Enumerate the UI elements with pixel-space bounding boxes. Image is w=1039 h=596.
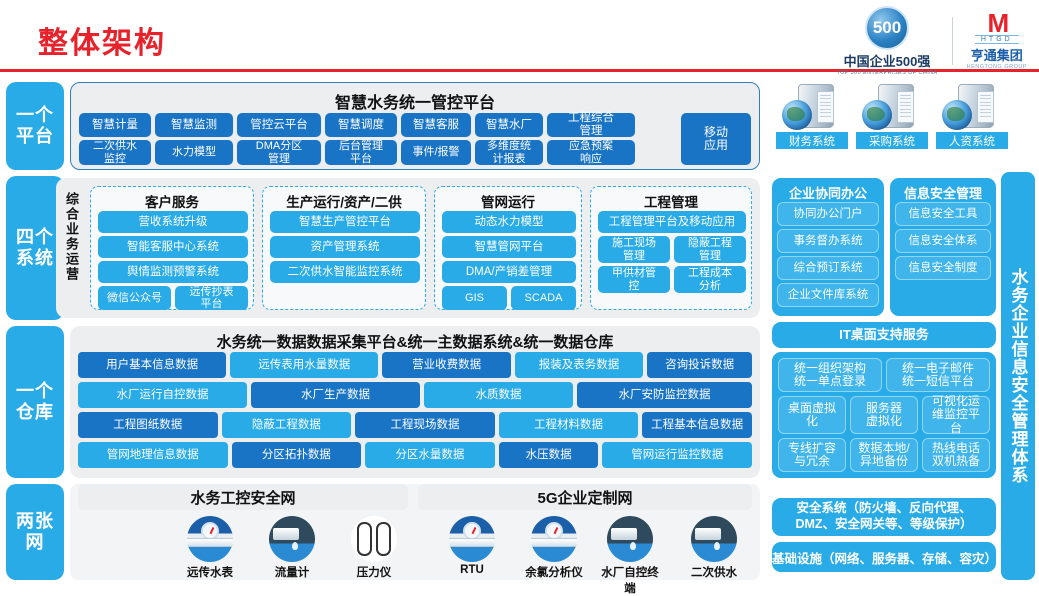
system-module[interactable]: 微信公众号 [98,286,171,310]
sensor-item[interactable]: RTU [440,516,504,576]
system-module[interactable]: DMA/产销差管理 [442,261,576,283]
panel-item[interactable]: 企业文件库系统 [777,283,879,307]
panel-enterprise-collab: 企业协同办公 协同办公门户事务督办系统综合预订系统企业文件库系统 [772,178,884,316]
warehouse-item[interactable]: 水压数据 [499,442,599,468]
system-module[interactable]: SCADA [511,286,576,310]
pipe-icon [449,538,495,547]
sensor-label: 二次供水 [682,564,746,580]
platform-module[interactable]: 事件/报警 [401,140,471,165]
it-support-item[interactable]: 专线扩容 与冗余 [778,438,846,472]
platform-module[interactable]: 智慧水厂 [475,113,543,137]
it-support-item[interactable]: 可视化运 维监控平 台 [922,396,990,434]
warehouse-item[interactable]: 水质数据 [424,382,573,408]
external-system-label: 财务系统 [776,132,848,149]
gauge-needle-icon [210,527,214,534]
plant-terminal-icon [607,516,653,562]
rail-label: 一个 平台 [16,105,54,146]
pressure-gauge-icon [351,516,397,562]
globe-icon [862,100,892,130]
panel-item[interactable]: 协同办公门户 [777,202,879,226]
gauge-needle-icon [554,527,558,534]
platform-module[interactable]: 智慧计量 [79,113,151,137]
panel-item[interactable]: 信息安全制度 [895,256,991,280]
platform-module[interactable]: 管控云平台 [237,113,321,137]
warehouse-item[interactable]: 工程材料数据 [499,412,639,438]
logo-group: 500 中国企业500强 TOP 500 ENTERPRISES OF CHIN… [836,6,1027,76]
warehouse-item[interactable]: 分区水量数据 [365,442,495,468]
system-group-3: 工程管理工程管理平台及移动应用施工现场 管理隐蔽工程 管理甲供材管 控工程成本 … [590,186,752,310]
system-module[interactable]: 工程管理平台及移动应用 [598,211,746,233]
external-system[interactable]: 财务系统 [776,84,848,149]
system-module[interactable]: 智能客服中心系统 [98,236,248,258]
network-title-5g: 5G企业定制网 [418,484,752,510]
warehouse-item[interactable]: 报装及表务数据 [515,352,643,378]
sensor-item[interactable]: 压力仪 [342,516,406,580]
sensor-item[interactable]: 流量计 [260,516,324,580]
warehouse-item[interactable]: 分区拓扑数据 [232,442,362,468]
top500-logo: 500 中国企业500强 TOP 500 ENTERPRISES OF CHIN… [836,6,937,76]
system-module[interactable]: 营收系统升级 [98,211,248,233]
rail-two-networks: 两张 网 [6,484,64,580]
networks-panel: 水务工控安全网 5G企业定制网 远传水表流量计压力仪RTU余氯分析仪水厂自控终端… [70,484,760,580]
rail-one-platform: 一个 平台 [6,82,64,170]
server-slots-icon [817,91,834,123]
security-system-label: 安全系统（防火墙、反向代理、DMZ、安全网关等、等级保护） [772,501,996,532]
warehouse-item[interactable]: 水厂运行自控数据 [78,382,247,408]
hengtong-cn-label: 亨通集团 [971,45,1023,64]
sensor-label: 余氯分析仪 [522,564,586,580]
flow-meter-icon [269,516,315,562]
spout-icon [611,528,637,540]
page-header: 整体架构 500 中国企业500强 TOP 500 ENTERPRISES OF… [0,0,1039,72]
server-globe-icon [862,84,922,130]
gauge-body-icon [357,522,372,556]
sensor-label: 水厂自控终端 [598,564,662,596]
gauge-needle-icon [472,527,476,534]
platform-panel: 智慧水务统一管控平台 智慧计量智慧监测管控云平台智慧调度智慧客服智慧水厂工程综合… [70,82,760,170]
warehouse-item[interactable]: 工程图纸数据 [78,412,218,438]
platform-module[interactable]: 二次供水 监控 [79,140,151,165]
system-group-1: 生产运行/资产/二供智慧生产管控平台资产管理系统二次供水智能监控系统 [262,186,426,310]
page-title: 整体架构 [38,18,166,62]
globe-icon [942,100,972,130]
rail-label: 四个 系统 [16,227,54,268]
system-group-2: 管网运行动态水力模型智慧管网平台DMA/产销差管理GISSCADA [434,186,582,310]
it-support-item[interactable]: 统一电子邮件 统一短信平台 [886,358,990,392]
server-slots-icon [897,91,914,123]
system-module[interactable]: GIS [442,286,507,310]
warehouse-item[interactable]: 管网运行监控数据 [602,442,752,468]
platform-title: 智慧水务统一管控平台 [71,89,759,113]
pipe-icon [187,538,233,547]
gauge-body-icon [376,522,391,556]
warehouse-title: 水务统一数据数据采集平台&统一主数据系统&统一数据仓库 [70,331,760,352]
it-support-title: IT桌面支持服务 [772,322,996,348]
it-support-item[interactable]: 服务器 虚拟化 [850,396,918,434]
top500-en-label: TOP 500 ENTERPRISES OF CHINA [836,70,937,76]
spout-icon [695,528,721,540]
warehouse-item[interactable]: 工程基本信息数据 [642,412,752,438]
platform-module[interactable]: 应急预案 响应 [547,140,635,165]
sensor-label: RTU [440,564,504,576]
platform-module[interactable]: 后台管理 平台 [325,140,397,165]
system-group-0: 客户服务营收系统升级智能客服中心系统舆情监测预警系统微信公众号远传抄表 平台 [90,186,254,310]
secondary-supply-icon [691,516,737,562]
network-title-industrial: 水务工控安全网 [78,484,408,510]
system-module[interactable]: 动态水力模型 [442,211,576,233]
it-support-header: IT桌面支持服务 [772,322,996,348]
globe-icon [782,100,812,130]
server-globe-icon [782,84,842,130]
chlorine-analyzer-icon [531,516,577,562]
system-group-title: 生产运行/资产/二供 [263,191,425,211]
panel-item[interactable]: 信息安全体系 [895,229,991,253]
external-system-label: 人资系统 [936,132,1008,149]
system-module[interactable]: 智慧生产管控平台 [270,211,420,233]
system-module[interactable]: 舆情监测预警系统 [98,261,248,283]
platform-module[interactable]: 智慧客服 [401,113,471,137]
server-globe-icon [942,84,1002,130]
server-slots-icon [977,91,994,123]
security-system-bar: 安全系统（防火墙、反向代理、DMZ、安全网关等、等级保护） [772,498,996,536]
panel-infosec-mgmt: 信息安全管理 信息安全工具信息安全体系信息安全制度 [890,178,996,316]
hengtong-en-label: HENGTONG GROUP [967,64,1027,70]
hengtong-mark-icon: M [987,12,1006,35]
rtu-icon [449,516,495,562]
water-drop-icon [630,542,636,550]
it-support-item[interactable]: 统一组织架构 统一单点登录 [778,358,882,392]
system-module[interactable]: 二次供水智能监控系统 [270,261,420,283]
warehouse-item[interactable]: 营业收费数据 [382,352,510,378]
system-module[interactable]: 甲供材管 控 [598,266,670,293]
panel-item[interactable]: 事务督办系统 [777,229,879,253]
water-drop-icon [292,542,298,550]
platform-module[interactable]: 工程综合 管理 [547,113,635,137]
platform-module[interactable]: DMA分区 管理 [237,140,321,165]
system-group-title: 客户服务 [91,191,253,211]
warehouse-item[interactable]: 咨询投诉数据 [647,352,752,378]
warehouse-item[interactable]: 水厂生产数据 [251,382,420,408]
system-module[interactable]: 施工现场 管理 [598,236,670,263]
panel-title: 信息安全管理 [890,178,996,202]
it-support-panel: 统一组织架构 统一单点登录统一电子邮件 统一短信平台 桌面虚拟 化服务器 虚拟化… [772,352,996,478]
rail-label: 一个 仓库 [16,381,54,422]
platform-mobile-app[interactable]: 移动 应用 [681,113,751,165]
external-system[interactable]: 人资系统 [936,84,1008,149]
warehouse-item[interactable]: 工程现场数据 [355,412,495,438]
top500-badge-icon: 500 [865,6,909,50]
pipe-icon [531,538,577,547]
warehouse-item[interactable]: 远传表用水量数据 [230,352,378,378]
platform-module[interactable]: 多维度统 计报表 [475,140,543,165]
panel-title: 企业协同办公 [772,178,884,202]
infrastructure-bar: 基础设施（网络、服务器、存储、容灾） [772,542,996,572]
system-module[interactable]: 资产管理系统 [270,236,420,258]
system-module[interactable]: 工程成本 分析 [674,266,746,293]
it-support-item[interactable]: 桌面虚拟 化 [778,396,846,434]
external-system-label: 采购系统 [856,132,928,149]
four-systems-panel: 综合业务运营 客户服务营收系统升级智能客服中心系统舆情监测预警系统微信公众号远传… [56,178,760,318]
top500-cn-label: 中国企业500强 [844,51,931,70]
sensor-item[interactable]: 水厂自控终端 [598,516,662,596]
right-vertical-label: 水务企业信息安全管理体系 [1001,172,1035,580]
platform-module[interactable]: 智慧监测 [155,113,233,137]
warehouse-item[interactable]: 用户基本信息数据 [78,352,226,378]
external-system[interactable]: 采购系统 [856,84,928,149]
hengtong-ellipse-label: HTGD [975,35,1019,44]
system-module[interactable]: 智慧管网平台 [442,236,576,258]
sensor-item[interactable]: 远传水表 [178,516,242,580]
system-module[interactable]: 隐蔽工程 管理 [674,236,746,263]
data-warehouse-panel: 水务统一数据数据采集平台&统一主数据系统&统一数据仓库 用户基本信息数据远传表用… [70,326,760,478]
water-drop-icon [714,542,720,550]
integrated-operations-label: 综合业务运营 [62,192,81,282]
panel-item[interactable]: 信息安全工具 [895,202,991,226]
warehouse-item[interactable]: 管网地理信息数据 [78,442,228,468]
sensor-label: 压力仪 [342,564,406,580]
warehouse-item[interactable]: 水厂安防监控数据 [577,382,752,408]
system-module[interactable]: 远传抄表 平台 [175,286,248,310]
sensor-label: 远传水表 [178,564,242,580]
sensor-item[interactable]: 余氯分析仪 [522,516,586,580]
architecture-diagram: 整体架构 500 中国企业500强 TOP 500 ENTERPRISES OF… [0,0,1039,584]
sensor-label: 流量计 [260,564,324,580]
it-support-item[interactable]: 热线电话 双机热备 [922,438,990,472]
platform-module[interactable]: 智慧调度 [325,113,397,137]
logo-divider [952,17,953,65]
platform-module[interactable]: 水力模型 [155,140,233,165]
water-meter-icon [187,516,233,562]
system-group-title: 工程管理 [591,191,751,211]
system-group-title: 管网运行 [435,191,581,211]
sensor-item[interactable]: 二次供水 [682,516,746,580]
rail-label: 两张 网 [16,511,54,552]
hengtong-logo: M HTGD 亨通集团 HENGTONG GROUP [967,12,1027,70]
warehouse-item[interactable]: 隐蔽工程数据 [222,412,352,438]
infrastructure-label: 基础设施（网络、服务器、存储、容灾） [772,548,996,567]
rail-one-warehouse: 一个 仓库 [6,326,64,478]
it-support-item[interactable]: 数据本地/ 异地备份 [850,438,918,472]
panel-item[interactable]: 综合预订系统 [777,256,879,280]
spout-icon [273,528,299,540]
